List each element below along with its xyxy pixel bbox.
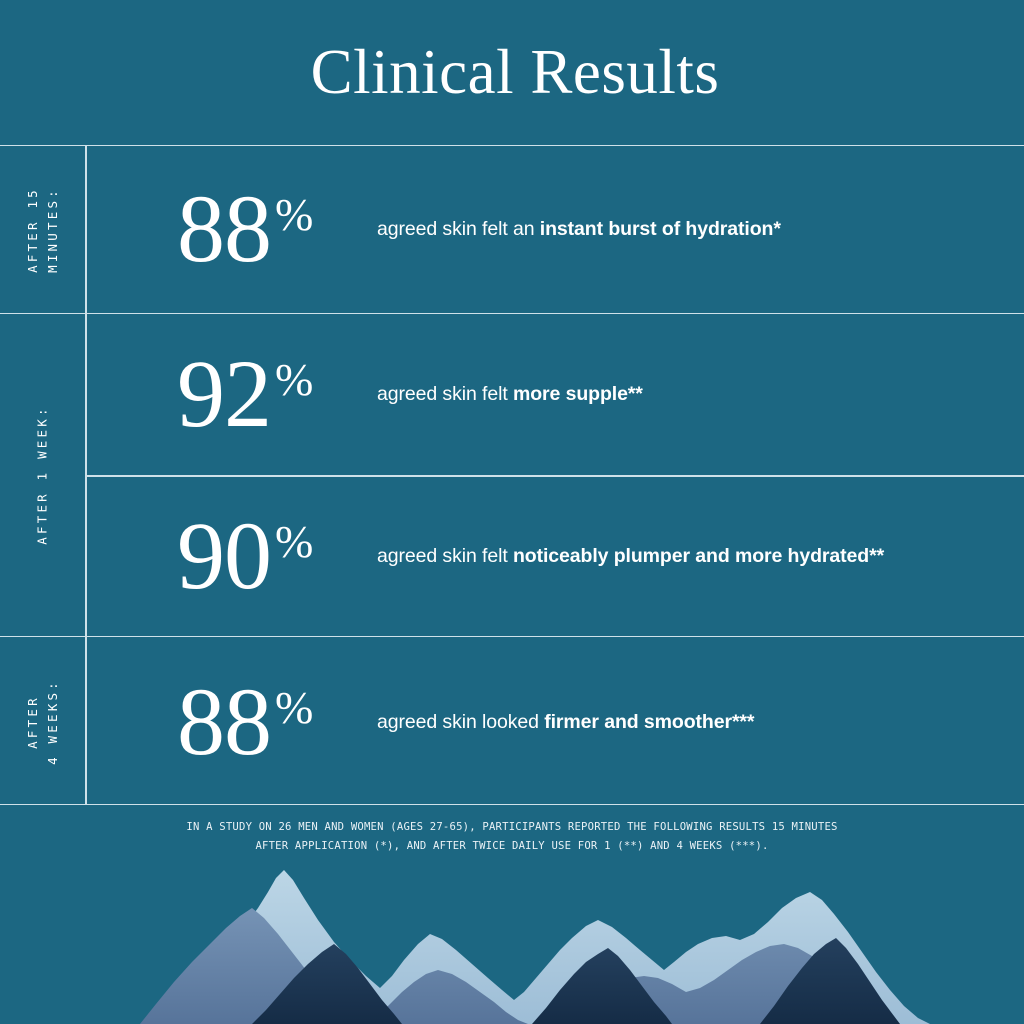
mountain-range-illustration (0, 864, 1024, 1024)
stat-value: 88 (177, 188, 271, 271)
result-group-after-4-weeks: AFTER 4 WEEKS: 88 % agreed skin looked f… (0, 636, 1024, 806)
result-row: 92 % agreed skin felt more supple** (85, 314, 1024, 475)
claim-bold: instant burst of hydration* (540, 218, 781, 240)
claim-bold: firmer and smoother*** (544, 711, 754, 733)
claim-text: agreed skin looked firmer and smoother**… (377, 707, 754, 737)
claim-plain: agreed skin felt an (377, 218, 540, 240)
title-banner: Clinical Results (0, 0, 1024, 145)
claim-text: agreed skin felt more supple** (377, 379, 643, 409)
stat-figure: 88 % (177, 681, 377, 764)
stat-value: 90 (177, 515, 271, 598)
disclaimer-line-2: AFTER APPLICATION (*), AND AFTER TWICE D… (0, 837, 1024, 856)
stage-label-line-2: 4 WEEKS: (43, 679, 63, 765)
stat-value: 92 (177, 353, 271, 436)
percent-symbol: % (275, 685, 313, 731)
result-row: 90 % agreed skin felt noticeably plumper… (85, 475, 1024, 637)
stage-label-line-1: AFTER 15 (25, 187, 40, 273)
stage-label-line-1: AFTER 1 WEEK: (35, 405, 50, 544)
page-title: Clinical Results (305, 41, 720, 104)
stat-figure: 92 % (177, 353, 377, 436)
stage-label-line-1: AFTER (25, 695, 40, 749)
result-group-after-15-minutes: AFTER 15 MINUTES: 88 % agreed skin felt … (0, 146, 1024, 313)
claim-plain: agreed skin felt (377, 383, 513, 405)
claim-text: agreed skin felt noticeably plumper and … (377, 541, 884, 571)
disclaimer-line-1: IN A STUDY ON 26 MEN AND WOMEN (AGES 27-… (0, 818, 1024, 837)
result-row: 88 % agreed skin looked firmer and smoot… (85, 637, 1024, 807)
stage-label-after-15-minutes: AFTER 15 MINUTES: (0, 146, 85, 313)
claim-plain: agreed skin felt (377, 545, 513, 567)
result-group-after-1-week: AFTER 1 WEEK: 92 % agreed skin felt more… (0, 313, 1024, 636)
claim-plain: agreed skin looked (377, 711, 544, 733)
result-row: 88 % agreed skin felt an instant burst o… (85, 146, 1024, 313)
claim-text: agreed skin felt an instant burst of hyd… (377, 214, 781, 244)
stage-label-line-2: MINUTES: (43, 187, 63, 273)
stage-label-after-1-week: AFTER 1 WEEK: (0, 314, 85, 636)
clinical-results-poster: Clinical Results AFTER 15 MINUTES: 88 % … (0, 0, 1024, 1024)
percent-symbol: % (275, 192, 313, 238)
stat-figure: 88 % (177, 188, 377, 271)
results-table: AFTER 15 MINUTES: 88 % agreed skin felt … (0, 145, 1024, 805)
stat-value: 88 (177, 681, 271, 764)
percent-symbol: % (275, 357, 313, 403)
claim-bold: more supple** (513, 383, 643, 405)
stat-figure: 90 % (177, 515, 377, 598)
study-disclaimer: IN A STUDY ON 26 MEN AND WOMEN (AGES 27-… (0, 818, 1024, 856)
percent-symbol: % (275, 519, 313, 565)
stage-label-after-4-weeks: AFTER 4 WEEKS: (0, 637, 85, 806)
claim-bold: noticeably plumper and more hydrated** (513, 545, 884, 567)
